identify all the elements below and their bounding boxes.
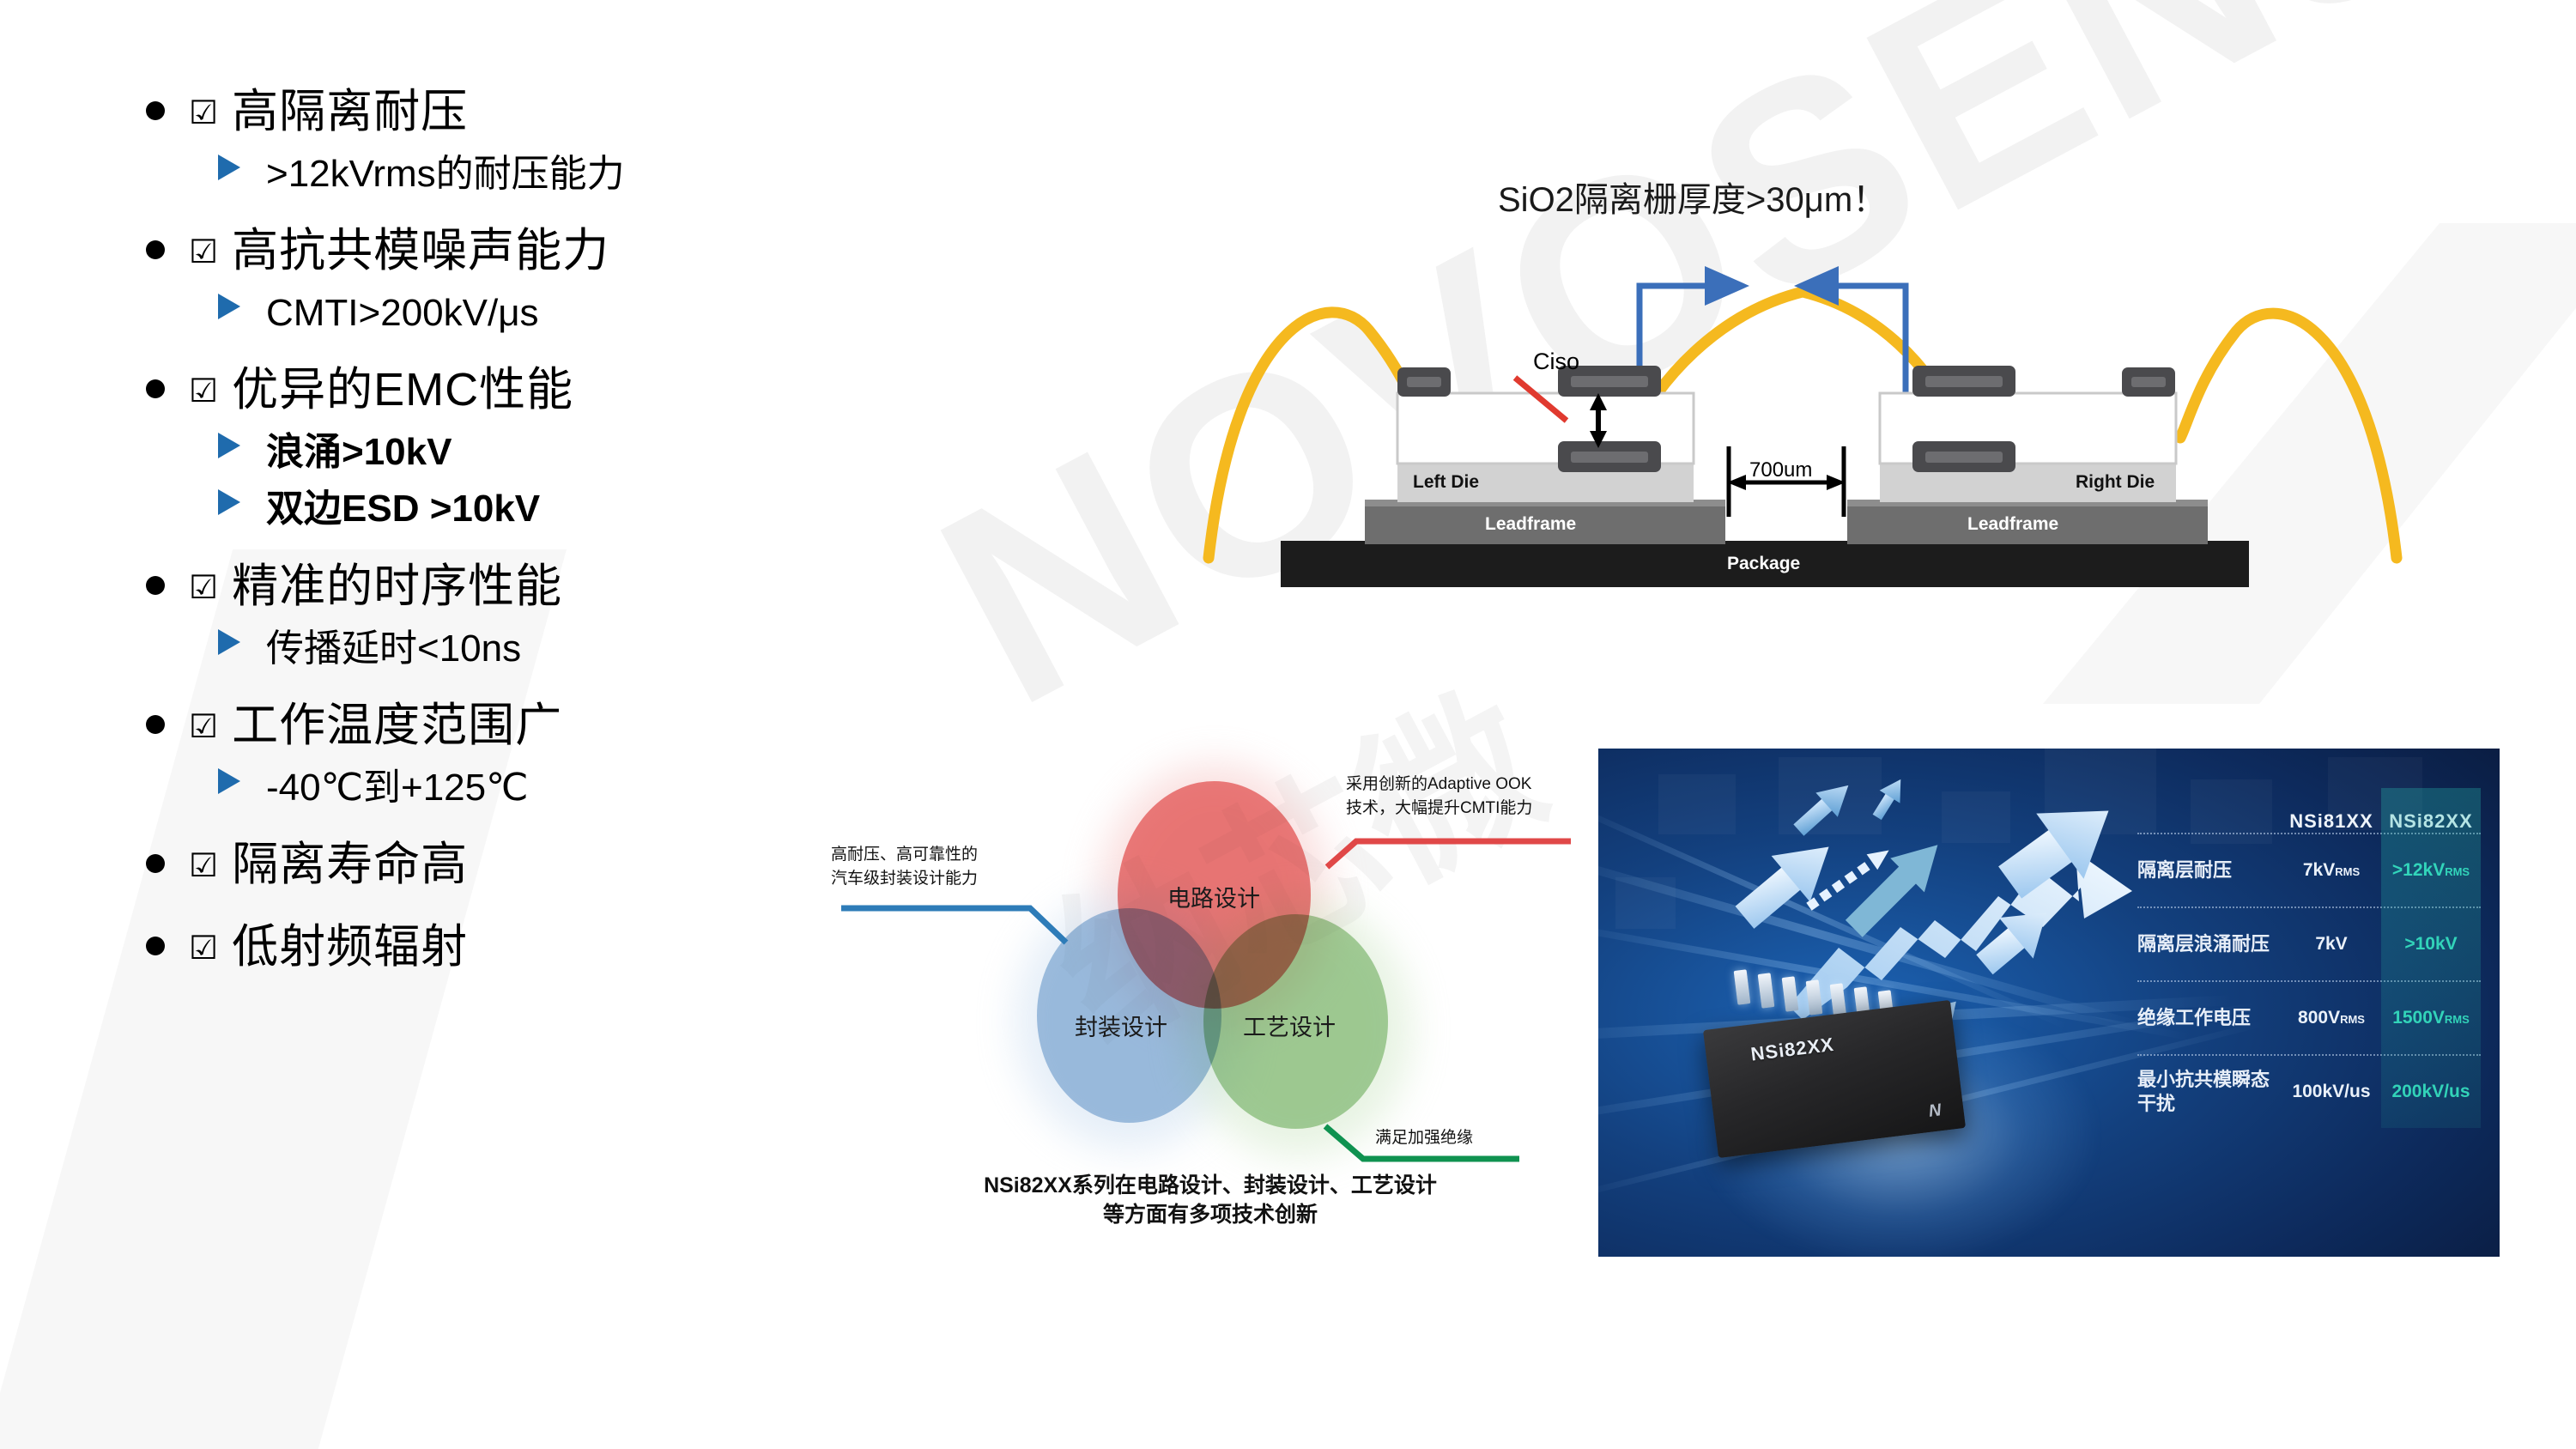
venn-note-process: 满足加强绝缘 [1375, 1126, 1473, 1150]
spec-table-body: 隔离层耐压7kVRMS>12kVRMS隔离层浪涌耐压7kV>10kV绝缘工作电压… [2137, 833, 2481, 1128]
slide-root: NOVOSENSE 纳芯微 ☑高隔离耐压>12kVrms的耐压能力☑高抗共模噪声… [0, 0, 2576, 1449]
venn-caption: NSi82XX系列在电路设计、封装设计、工艺设计 等方面有多项技术创新 [815, 1172, 1605, 1230]
feature-sub-text: 传播延时<10ns [266, 627, 521, 671]
venn-note-circuit-line2: 技术，大幅提升CMTI能力 [1346, 797, 1532, 821]
arrow-head-left [1705, 266, 1749, 306]
checkbox-checked-icon: ☑ [189, 931, 218, 964]
spec-table-row: 绝缘工作电压800VRMS1500VRMS [2137, 980, 2481, 1054]
product-comparison-panel: NSi82XX N NSi81XX NSi82XX 隔离层耐压7kVRMS>12… [1598, 749, 2500, 1257]
left-die-label: Left Die [1413, 472, 1479, 493]
bullet-dot-icon [146, 379, 165, 398]
light-ray [1598, 852, 2142, 1030]
spec-header-nsi82: NSi82XX [2381, 810, 2481, 833]
venn-note-package-line1: 高耐压、高可靠性的 [831, 843, 978, 867]
feature-item: ☑隔离寿命高 [146, 839, 798, 892]
checkbox-checked-icon: ☑ [189, 849, 218, 882]
feature-item: ☑低射频辐射 [146, 921, 798, 974]
package-cross-section-diagram: SiO2隔离栅厚度>30μm！ [1202, 163, 2403, 609]
spec-comparison-table: NSi81XX NSi82XX 隔离层耐压7kVRMS>12kVRMS隔离层浪涌… [2137, 788, 2481, 1128]
feature-sub-text: CMTI>200kV/μs [266, 292, 539, 336]
bullet-dot-icon [146, 937, 165, 955]
bg-square [1615, 877, 1676, 929]
venn-caption-line2: 等方面有多项技术创新 [815, 1201, 1605, 1230]
spec-header-nsi81: NSi81XX [2282, 810, 2381, 833]
bullet-dot-icon [146, 101, 165, 120]
bullet-dot-icon [146, 854, 165, 873]
bg-square [1779, 757, 1882, 834]
feature-title: 高隔离耐压 [232, 86, 468, 139]
package-label: Package [1727, 554, 1800, 574]
spec-value-subscript: RMS [2445, 865, 2470, 878]
bullet-dot-icon [146, 576, 165, 595]
feature-sub-text: 浪涌>10kV [266, 431, 452, 475]
spec-value-nsi82: >10kV [2381, 934, 2481, 955]
venn-note-circuit: 采用创新的Adaptive OOK 技术，大幅提升CMTI能力 [1346, 773, 1532, 820]
feature-title: 隔离寿命高 [232, 839, 468, 892]
feature-item: ☑高隔离耐压 [146, 86, 798, 139]
package-diagram-svg [1202, 163, 2403, 609]
venn-note-process-line1: 满足加强绝缘 [1375, 1126, 1473, 1150]
feature-sub-text: -40℃到+125℃ [266, 767, 529, 810]
triangle-bullet-icon [218, 294, 240, 319]
venn-callout-lines [815, 755, 1605, 1202]
spec-value-nsi81: 100kV/us [2282, 1082, 2381, 1102]
feature-sub-item: CMTI>200kV/μs [218, 292, 798, 336]
bullet-dot-icon [146, 715, 165, 734]
feature-sub-item: -40℃到+125℃ [218, 767, 798, 810]
bg-square [1658, 774, 1736, 834]
spec-value-subscript: RMS [2340, 1013, 2365, 1026]
spec-table-header: NSi81XX NSi82XX [2137, 788, 2481, 833]
spec-value-nsi82: 1500VRMS [2381, 1008, 2481, 1028]
feature-title: 精准的时序性能 [232, 561, 562, 614]
triangle-bullet-icon [218, 489, 240, 515]
right-die-label: Right Die [2076, 472, 2155, 493]
feature-item: ☑高抗共模噪声能力 [146, 225, 798, 278]
checkbox-checked-icon: ☑ [189, 96, 218, 129]
spec-value-nsi82: 200kV/us [2381, 1082, 2481, 1102]
chip-part-number: NSi82XX [1749, 1034, 1835, 1066]
checkbox-checked-icon: ☑ [189, 571, 218, 603]
checkbox-checked-icon: ☑ [189, 374, 218, 407]
feature-sub-item: 双边ESD >10kV [218, 488, 798, 531]
spec-value-subscript: RMS [2335, 865, 2360, 878]
spec-table-row: 隔离层浪涌耐压7kV>10kV [2137, 906, 2481, 980]
feature-sub-text: >12kVrms的耐压能力 [266, 153, 625, 197]
venn-note-package-line2: 汽车级封装设计能力 [831, 867, 978, 891]
leadframe-left-label: Leadframe [1485, 514, 1576, 535]
feature-title: 高抗共模噪声能力 [232, 225, 609, 278]
checkbox-checked-icon: ☑ [189, 235, 218, 268]
spec-table-row: 隔离层耐压7kVRMS>12kVRMS [2137, 833, 2481, 906]
triangle-bullet-icon [218, 155, 240, 180]
capability-venn-diagram: 电路设计 封装设计 工艺设计 采用创新的Adaptive OOK 技术，大幅提升… [815, 755, 1605, 1288]
feature-title: 优异的EMC性能 [232, 364, 573, 417]
bg-square [1942, 791, 2010, 843]
feature-item: ☑优异的EMC性能 [146, 364, 798, 417]
venn-note-circuit-line1: 采用创新的Adaptive OOK [1346, 773, 1532, 797]
feature-item: ☑工作温度范围广 [146, 700, 798, 753]
chip-pin [1758, 973, 1775, 1009]
triangle-bullet-icon [218, 433, 240, 458]
bullet-dot-icon [146, 240, 165, 259]
spec-param-label: 隔离层耐压 [2137, 858, 2282, 882]
feature-bullet-list: ☑高隔离耐压>12kVrms的耐压能力☑高抗共模噪声能力CMTI>200kV/μ… [146, 86, 798, 973]
chip-pin [1734, 969, 1751, 1005]
spec-value-nsi82: >12kVRMS [2381, 860, 2481, 881]
feature-sub-item: 浪涌>10kV [218, 431, 798, 475]
venn-caption-line1: NSi82XX系列在电路设计、封装设计、工艺设计 [815, 1172, 1605, 1201]
spec-value-subscript: RMS [2445, 1013, 2470, 1026]
triangle-bullet-icon [218, 768, 240, 794]
feature-title: 工作温度范围广 [232, 700, 562, 753]
checkbox-checked-icon: ☑ [189, 710, 218, 743]
gap-label: 700um [1749, 458, 1812, 482]
spec-value-nsi81: 800VRMS [2282, 1008, 2381, 1028]
feature-sub-item: 传播延时<10ns [218, 627, 798, 671]
spec-param-label: 绝缘工作电压 [2137, 1006, 2282, 1030]
feature-sub-text: 双边ESD >10kV [266, 488, 540, 531]
feature-sub-item: >12kVrms的耐压能力 [218, 153, 798, 197]
ciso-label: Ciso [1533, 349, 1579, 375]
feature-item: ☑精准的时序性能 [146, 561, 798, 614]
spec-value-nsi81: 7kV [2282, 934, 2381, 955]
leadframe-right-label: Leadframe [1967, 514, 2058, 535]
spec-table-row: 最小抗共模瞬态干扰100kV/us200kV/us [2137, 1054, 2481, 1128]
chip-brand-logo: N [1928, 1100, 1943, 1122]
spec-param-label: 隔离层浪涌耐压 [2137, 932, 2282, 956]
feature-title: 低射频辐射 [232, 921, 468, 974]
venn-note-package: 高耐压、高可靠性的 汽车级封装设计能力 [831, 843, 978, 890]
triangle-bullet-icon [218, 629, 240, 655]
spec-param-label: 最小抗共模瞬态干扰 [2137, 1068, 2282, 1116]
spec-value-nsi81: 7kVRMS [2282, 860, 2381, 881]
